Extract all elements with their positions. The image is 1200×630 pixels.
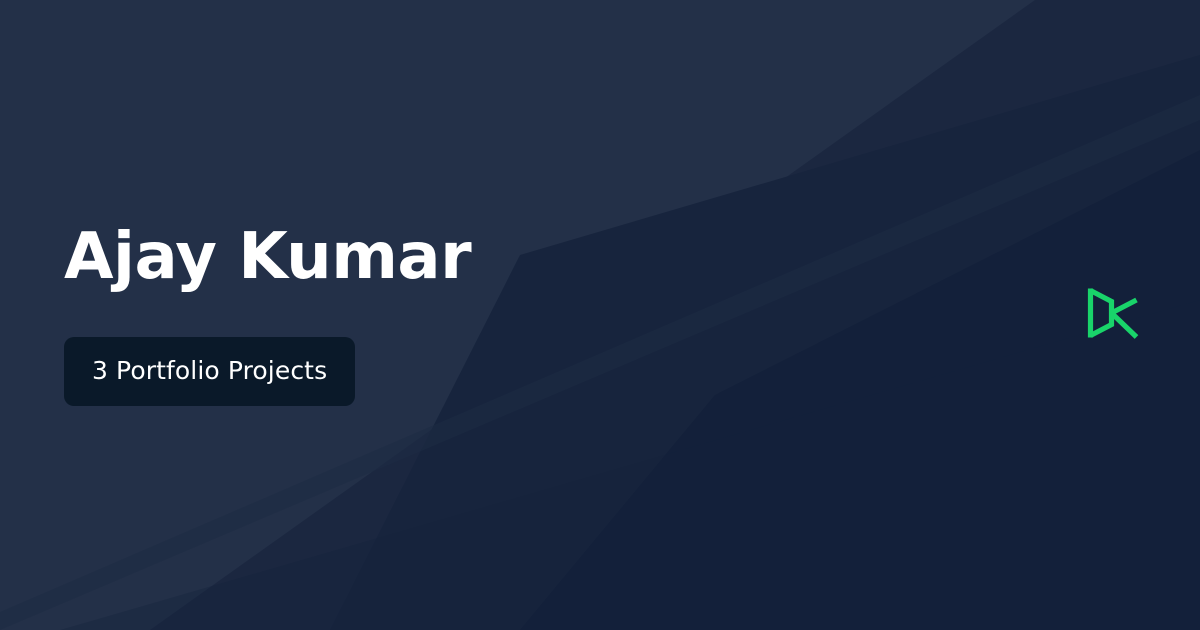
- page-title: Ajay Kumar: [64, 224, 471, 291]
- card-content: Ajay Kumar 3 Portfolio Projects: [64, 0, 764, 630]
- dagshub-logo-glyph: [1085, 285, 1141, 341]
- portfolio-share-card: Ajay Kumar 3 Portfolio Projects: [0, 0, 1200, 630]
- status-badge-label: 3 Portfolio Projects: [92, 358, 327, 383]
- dagshub-logo-icon: [1085, 285, 1141, 341]
- status-badge: 3 Portfolio Projects: [64, 337, 355, 406]
